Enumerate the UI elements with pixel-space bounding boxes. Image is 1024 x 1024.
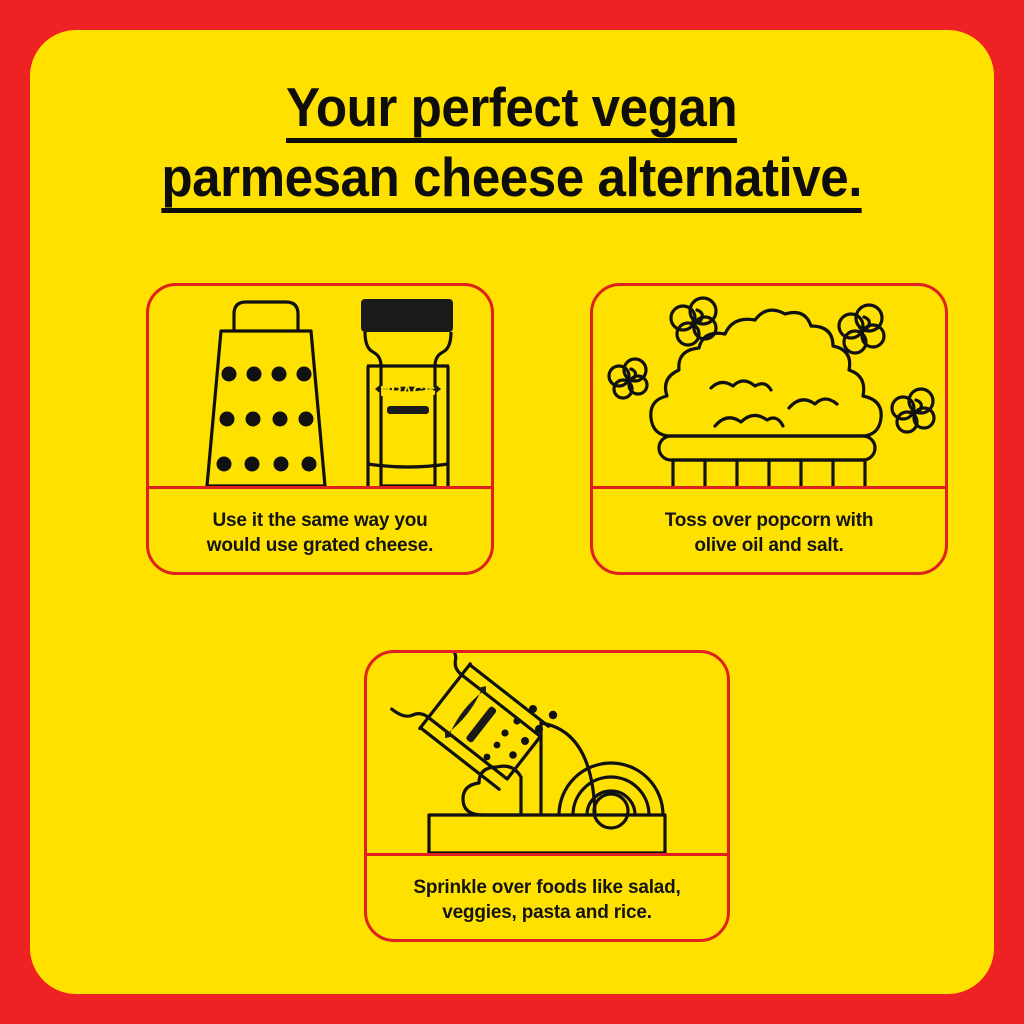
page-title-line-2: parmesan cheese alternative. <box>162 148 863 213</box>
poster-canvas: Your perfect vegan parmesan cheese alter… <box>0 0 1024 1024</box>
usage-card-sprinkle[interactable]: Sprinkle over foods like salad, veggies,… <box>364 650 730 942</box>
caption-line-2: would use grated cheese. <box>207 535 433 556</box>
shaker-sprinkling-over-plate-illustration <box>367 653 727 853</box>
usage-card-popcorn[interactable]: Toss over popcorn with olive oil and sal… <box>590 283 948 575</box>
yellow-panel: Your perfect vegan parmesan cheese alter… <box>30 30 994 994</box>
popcorn-kernel-top-left <box>671 298 716 345</box>
bragg-logo-banner: BRAGG <box>375 383 441 414</box>
card-caption: Use it the same way you would use grated… <box>149 508 491 558</box>
caption-line-1: Use it the same way you <box>212 510 427 531</box>
caption-line-1: Toss over popcorn with <box>665 510 874 531</box>
popcorn-tub-illustration <box>593 286 945 486</box>
card-divider <box>365 853 729 856</box>
bragg-shaker-tilted <box>392 653 551 792</box>
popcorn-kernel-right <box>892 389 934 432</box>
bragg-wordmark: BRAGG <box>380 383 436 400</box>
caption-line-1: Sprinkle over foods like salad, <box>413 877 680 898</box>
card-divider <box>147 486 493 489</box>
grater-holes <box>217 367 317 472</box>
card-divider <box>591 486 947 489</box>
usage-card-grater[interactable]: BRAGG Use it the same way you would use … <box>146 283 494 575</box>
caption-line-2: veggies, pasta and rice. <box>442 902 652 923</box>
card-caption: Sprinkle over foods like salad, veggies,… <box>367 875 727 925</box>
popcorn-kernel-top-right <box>839 305 884 353</box>
page-title-line-1: Your perfect vegan <box>286 78 737 143</box>
grater-and-bragg-bottle-illustration: BRAGG <box>149 286 491 486</box>
bragg-bottle: BRAGG <box>361 299 453 486</box>
page-title: Your perfect vegan parmesan cheese alter… <box>30 78 994 218</box>
caption-line-2: olive oil and salt. <box>694 535 843 556</box>
popcorn-kernel-left <box>609 359 647 398</box>
card-caption: Toss over popcorn with olive oil and sal… <box>593 508 945 558</box>
